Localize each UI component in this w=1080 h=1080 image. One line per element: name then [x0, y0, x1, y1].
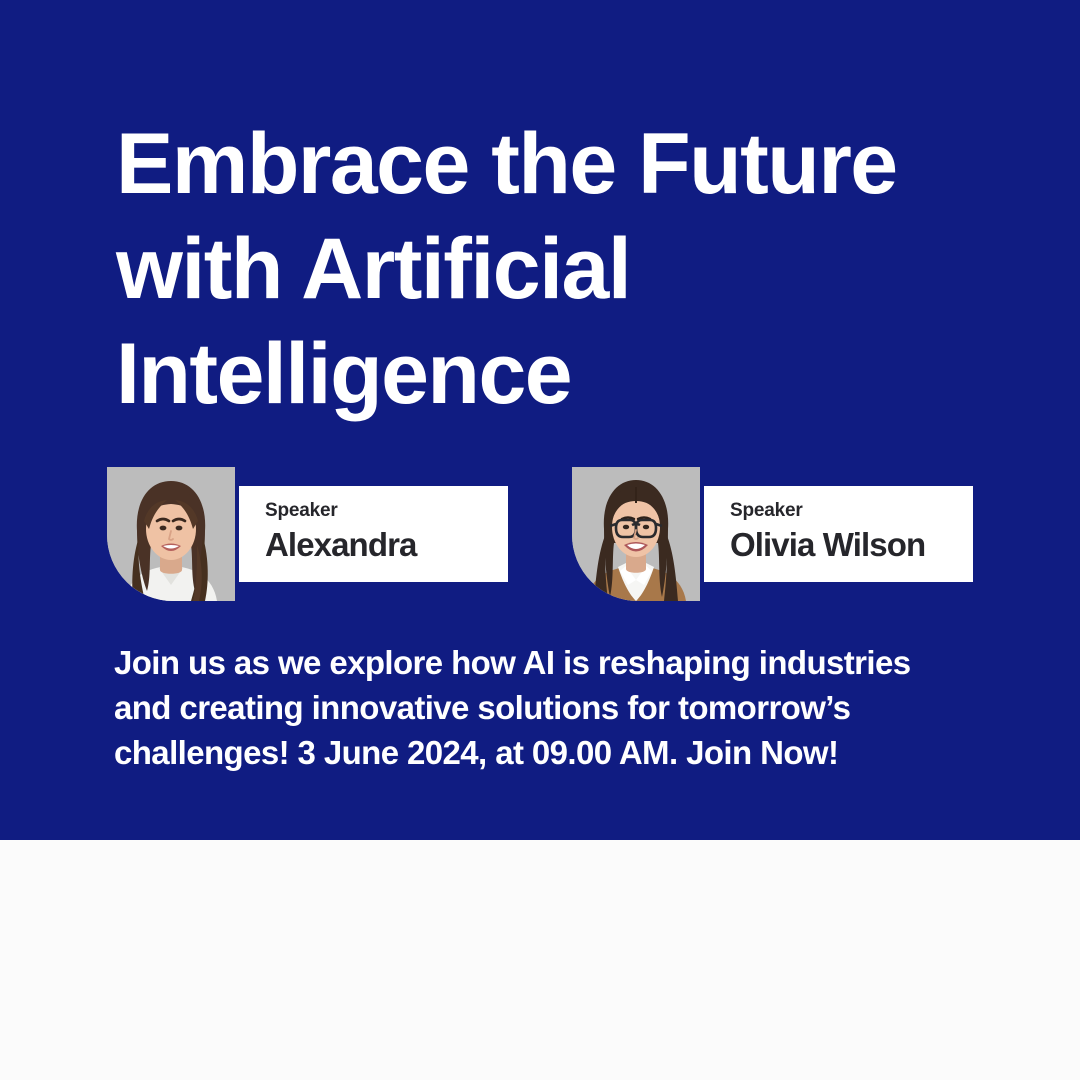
speaker-name-plate: Speaker Alexandra [239, 486, 508, 582]
event-description: Join us as we explore how AI is reshapin… [114, 640, 994, 775]
description-line-3: challenges! 3 June 2024, at 09.00 AM. Jo… [114, 730, 994, 775]
headline-line-2: with Artificial [116, 217, 1016, 322]
speaker-role-label: Speaker [730, 500, 973, 522]
speaker-card: Speaker Olivia Wilson [572, 467, 973, 601]
speaker-card: Speaker Alexandra [107, 467, 508, 601]
speaker-list: Speaker Alexandra [107, 467, 973, 601]
speaker-name: Alexandra [265, 524, 508, 566]
headline-line-3: Intelligence [116, 322, 1016, 427]
speaker-name: Olivia Wilson [730, 524, 973, 566]
speaker-name-plate: Speaker Olivia Wilson [704, 486, 973, 582]
description-line-1: Join us as we explore how AI is reshapin… [114, 640, 994, 685]
avatar [107, 467, 235, 601]
avatar [572, 467, 700, 601]
speaker-role-label: Speaker [265, 500, 508, 522]
event-poster: Embrace the Future with Artificial Intel… [0, 0, 1080, 1080]
hero-section: Embrace the Future with Artificial Intel… [0, 0, 1080, 840]
page-title: Embrace the Future with Artificial Intel… [116, 112, 1016, 427]
footer-section: Capcut Free Registration! Follow our soc… [0, 840, 1080, 1080]
headline-line-1: Embrace the Future [116, 112, 1016, 217]
description-line-2: and creating innovative solutions for to… [114, 685, 994, 730]
